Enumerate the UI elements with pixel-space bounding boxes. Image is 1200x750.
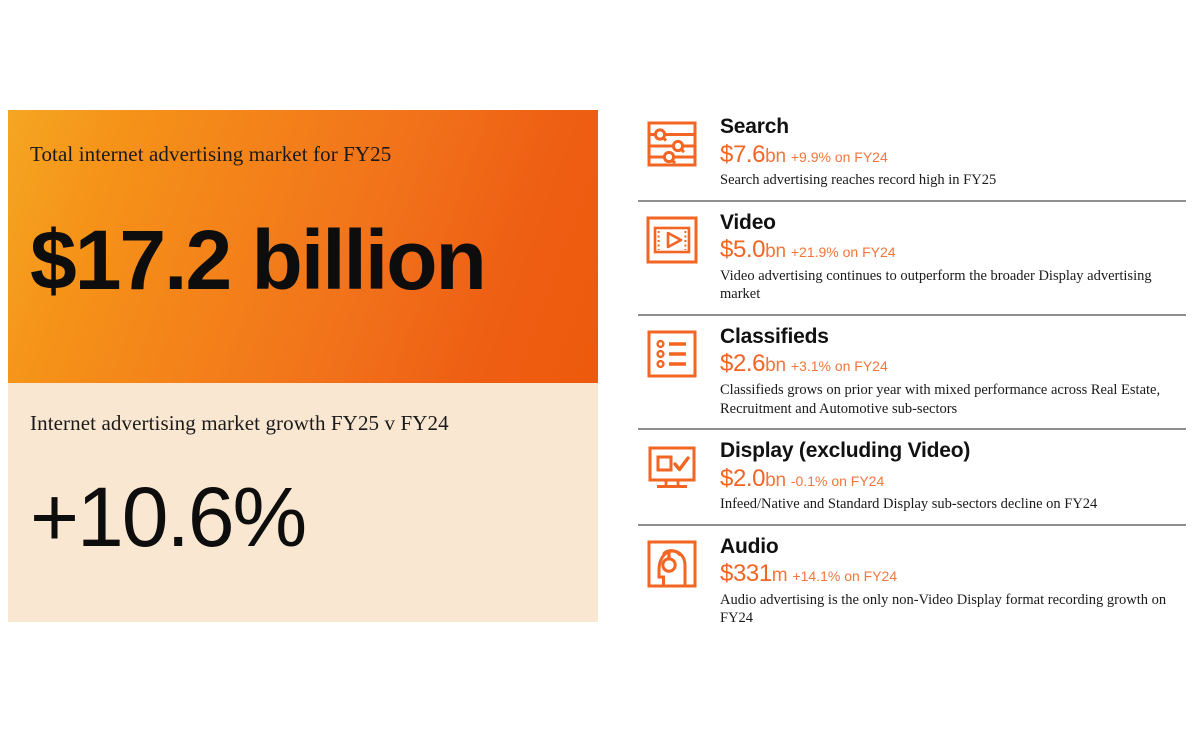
format-breakdown-list: Search $7.6bn+9.9% on FY24 Search advert… [638, 108, 1186, 634]
market-growth-value: +10.6% [30, 475, 305, 559]
category-unit: bn [765, 470, 786, 491]
category-note: Infeed/Native and Standard Display sub-s… [720, 495, 1182, 514]
video-filmstrip-icon [638, 210, 706, 272]
category-change: +3.1% on FY24 [791, 358, 888, 374]
category-amount: $7.6 [720, 141, 765, 168]
market-growth-card: Internet advertising market growth FY25 … [8, 383, 598, 622]
list-item-body: Display (excluding Video) $2.0bn-0.1% on… [706, 438, 1186, 514]
list-divider [638, 428, 1186, 430]
market-summary-panel: Total internet advertising market for FY… [8, 110, 598, 622]
category-amount: $2.6 [720, 350, 765, 377]
category-figures: $331m+14.1% on FY24 [720, 560, 1186, 588]
total-market-value: $17.2 billion [30, 218, 485, 302]
category-unit: m [772, 565, 788, 586]
list-item-body: Audio $331m+14.1% on FY24 Audio advertis… [706, 534, 1186, 628]
category-unit: bn [765, 355, 786, 376]
category-figures: $5.0bn+21.9% on FY24 [720, 236, 1186, 264]
category-unit: bn [765, 146, 786, 167]
category-amount: $5.0 [720, 236, 765, 263]
classifieds-list-icon [638, 324, 706, 386]
market-growth-label: Internet advertising market growth FY25 … [30, 411, 449, 436]
search-lines-icon [638, 114, 706, 176]
category-title: Search [720, 115, 1186, 139]
category-note: Search advertising reaches record high i… [720, 171, 1182, 190]
category-amount: $2.0 [720, 465, 765, 492]
list-item-audio[interactable]: Audio $331m+14.1% on FY24 Audio advertis… [638, 528, 1186, 634]
list-item-body: Search $7.6bn+9.9% on FY24 Search advert… [706, 114, 1186, 190]
list-item-classifieds[interactable]: Classifieds $2.6bn+3.1% on FY24 Classifi… [638, 318, 1186, 424]
list-divider [638, 314, 1186, 316]
list-item-body: Classifieds $2.6bn+3.1% on FY24 Classifi… [706, 324, 1186, 418]
category-note: Audio advertising is the only non-Video … [720, 591, 1182, 628]
audio-headphones-head-icon [638, 534, 706, 596]
list-divider [638, 200, 1186, 202]
list-item-body: Video $5.0bn+21.9% on FY24 Video adverti… [706, 210, 1186, 304]
category-change: +9.9% on FY24 [791, 149, 888, 165]
total-market-card: Total internet advertising market for FY… [8, 110, 598, 383]
list-item-search[interactable]: Search $7.6bn+9.9% on FY24 Search advert… [638, 108, 1186, 196]
list-divider [638, 524, 1186, 526]
category-note: Classifieds grows on prior year with mix… [720, 381, 1182, 418]
list-item-display[interactable]: Display (excluding Video) $2.0bn-0.1% on… [638, 432, 1186, 520]
category-amount: $331 [720, 560, 772, 587]
category-figures: $2.0bn-0.1% on FY24 [720, 465, 1186, 493]
category-title: Classifieds [720, 325, 1186, 349]
category-change: -0.1% on FY24 [791, 473, 884, 489]
slide-root: Total internet advertising market for FY… [0, 0, 1200, 750]
category-figures: $2.6bn+3.1% on FY24 [720, 350, 1186, 378]
category-change: +21.9% on FY24 [791, 244, 896, 260]
category-note: Video advertising continues to outperfor… [720, 267, 1182, 304]
category-title: Display (excluding Video) [720, 439, 1186, 463]
category-unit: bn [765, 241, 786, 262]
category-title: Video [720, 211, 1186, 235]
total-market-label: Total internet advertising market for FY… [30, 142, 391, 167]
list-item-video[interactable]: Video $5.0bn+21.9% on FY24 Video adverti… [638, 204, 1186, 310]
display-monitor-check-icon [638, 438, 706, 500]
category-figures: $7.6bn+9.9% on FY24 [720, 141, 1186, 169]
category-title: Audio [720, 535, 1186, 559]
category-change: +14.1% on FY24 [792, 568, 897, 584]
